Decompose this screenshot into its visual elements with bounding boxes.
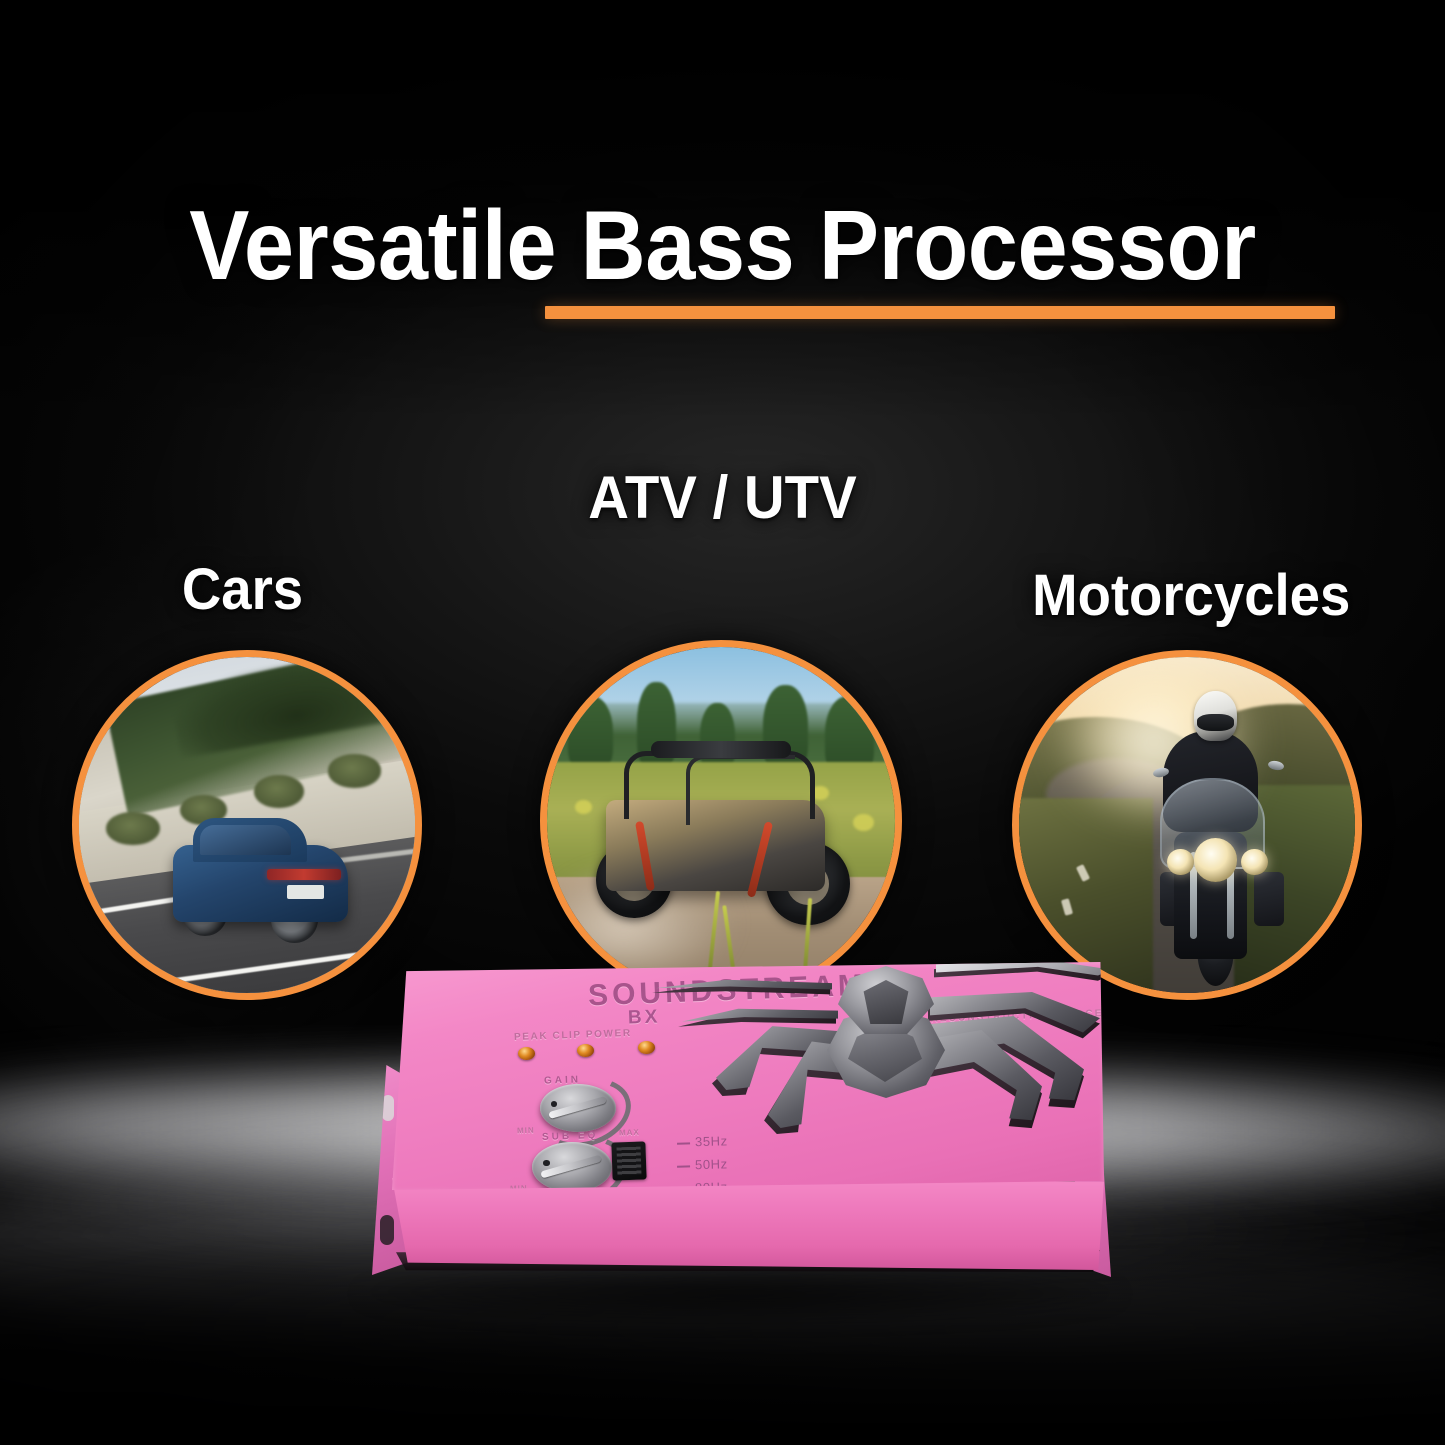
chassis-top-panel: SOUNDSTREAM BX BASS RECONSTRUCTION PROCE… bbox=[392, 962, 1104, 1190]
car-window bbox=[200, 825, 291, 855]
knob-pointer bbox=[540, 1155, 602, 1179]
headlight-main bbox=[1194, 838, 1238, 882]
bush bbox=[254, 775, 304, 809]
marketing-banner: Versatile Bass Processor ATV / UTV Cars … bbox=[0, 0, 1445, 1445]
subbass-knob[interactable] bbox=[532, 1142, 612, 1192]
car-license-plate bbox=[287, 885, 324, 898]
helmet-visor bbox=[1197, 714, 1234, 731]
knob-pointer bbox=[548, 1096, 607, 1119]
bush bbox=[328, 754, 382, 788]
chassis-front-panel bbox=[392, 1178, 1104, 1270]
gain-min-label: MIN bbox=[517, 1126, 535, 1136]
knob-index-dot bbox=[551, 1101, 557, 1106]
headlight-aux-left bbox=[1167, 849, 1194, 876]
wildflower bbox=[575, 800, 592, 814]
frequency-label: 50Hz bbox=[695, 1156, 728, 1172]
category-label-atv-utv: ATV / UTV bbox=[43, 463, 1401, 532]
saddlebag bbox=[1254, 872, 1284, 926]
category-image-motorcycles bbox=[1012, 650, 1362, 1000]
bush bbox=[106, 812, 160, 846]
crossover-frequency-switch[interactable] bbox=[611, 1141, 646, 1180]
led-indicator-label: PEAK CLIP POWER bbox=[514, 1028, 632, 1043]
headlight-aux-right bbox=[1241, 849, 1268, 876]
status-led-peak bbox=[518, 1047, 535, 1060]
page-title: Versatile Bass Processor bbox=[58, 196, 1387, 294]
gain-knob[interactable] bbox=[540, 1084, 616, 1132]
title-underline-accent bbox=[545, 306, 1335, 319]
tree bbox=[568, 696, 613, 773]
tick-mark bbox=[677, 1165, 690, 1167]
category-label-cars: Cars bbox=[182, 556, 303, 623]
category-label-motorcycles: Motorcycles bbox=[1032, 562, 1350, 629]
category-image-cars bbox=[72, 650, 422, 1000]
cars-photo bbox=[79, 657, 415, 993]
tick-mark bbox=[677, 1142, 690, 1144]
spider-emblem bbox=[642, 950, 1112, 1140]
car-taillight bbox=[267, 869, 341, 881]
bracket-slot bbox=[382, 1095, 394, 1121]
frequency-option-50hz[interactable]: 50Hz bbox=[677, 1156, 728, 1172]
product-drop-shadow bbox=[360, 1268, 1120, 1320]
gain-max-label: MAX bbox=[619, 1128, 640, 1138]
utv-roll-cage bbox=[686, 755, 794, 825]
category-image-atv-utv bbox=[540, 640, 902, 1002]
status-led-clip bbox=[577, 1044, 594, 1057]
bracket-slot bbox=[380, 1215, 394, 1245]
utv-roof bbox=[651, 741, 790, 758]
atv-photo bbox=[547, 647, 895, 995]
product-bass-processor: SOUNDSTREAM BX BASS RECONSTRUCTION PROCE… bbox=[330, 950, 1130, 1320]
knob-index-dot bbox=[543, 1160, 549, 1166]
motorcycle-photo bbox=[1019, 657, 1355, 993]
